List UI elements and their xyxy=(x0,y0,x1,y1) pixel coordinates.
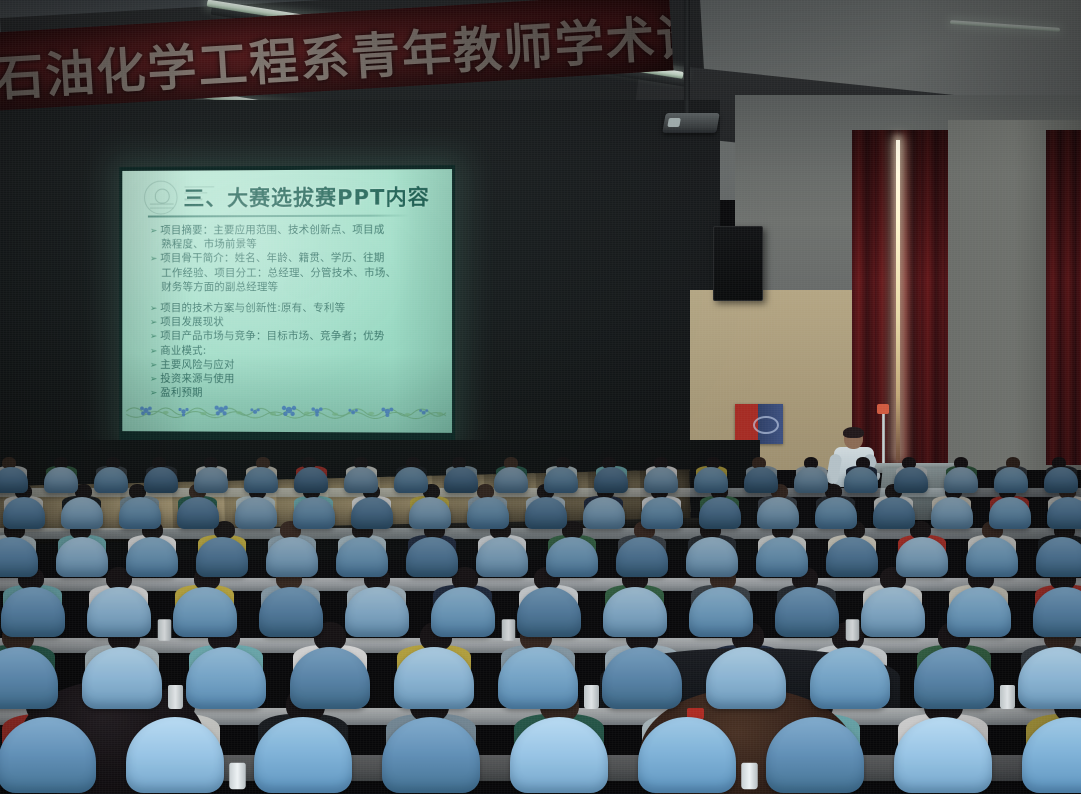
auditorium-seat xyxy=(87,587,151,637)
auditorium-photo: 石油化学工程系青年教师学术论坛 三、大赛选拔赛PPT内容 ➢项目摘要：主要应用范… xyxy=(0,0,1081,794)
slide-bullet-text: 项目发展现状 xyxy=(160,316,224,329)
auditorium-seat xyxy=(244,467,278,493)
slide-bullet-item: ➢投资来源与使用 xyxy=(150,373,434,387)
auditorium-seat xyxy=(177,497,219,529)
auditorium-seat xyxy=(259,587,323,637)
audience-seating xyxy=(0,455,1081,794)
stage-curtain-right xyxy=(1046,130,1081,465)
projector-icon xyxy=(662,113,720,133)
slide-title-underline xyxy=(148,215,410,218)
curtain-light-gap xyxy=(896,140,900,460)
bullet-arrow-icon: ➢ xyxy=(150,225,157,238)
paper-cup xyxy=(158,619,172,641)
auditorium-seat xyxy=(336,537,388,577)
microphone-icon xyxy=(877,404,889,414)
auditorium-seat xyxy=(525,497,567,529)
curtain-shading-right xyxy=(1046,130,1081,465)
bullet-arrow-icon: ➢ xyxy=(150,254,157,267)
auditorium-seat xyxy=(294,467,328,493)
auditorium-seat xyxy=(594,467,628,493)
paper-cup xyxy=(502,619,516,641)
auditorium-seat xyxy=(3,497,45,529)
auditorium-seat xyxy=(44,467,78,493)
auditorium-seat xyxy=(894,467,928,493)
auditorium-seat xyxy=(94,467,128,493)
projection-screen: 三、大赛选拔赛PPT内容 ➢项目摘要：主要应用范围、技术创新点、项目成➢熟程度、… xyxy=(122,169,452,433)
slide-bullet-text: 商业模式: xyxy=(160,344,206,357)
auditorium-seat xyxy=(235,497,277,529)
auditorium-seat xyxy=(266,537,318,577)
paper-cup xyxy=(168,685,183,709)
floral-border-svg xyxy=(122,395,452,422)
slide-bullet-item: ➢商业模式: xyxy=(150,344,434,358)
auditorium-seat xyxy=(345,587,409,637)
slide-bullet-item: ➢项目发展现状 xyxy=(150,316,434,329)
auditorium-seat xyxy=(394,467,428,493)
auditorium-seat xyxy=(476,537,528,577)
auditorium-seat xyxy=(689,587,753,637)
slide-bullet-item: ➢项目产品市场与竞争：目标市场、竞争者；优势 xyxy=(150,330,434,344)
bullet-arrow-icon: ➢ xyxy=(150,374,157,387)
slide-bullet-text: 项目骨干简介：姓名、年龄、籍贯、学历、往期 xyxy=(160,252,384,266)
auditorium-seat xyxy=(966,537,1018,577)
auditorium-seat xyxy=(603,587,667,637)
auditorium-seat xyxy=(757,497,799,529)
auditorium-seat xyxy=(699,497,741,529)
slide-bullet-line-cont: ➢财务等方面的副总经理等 xyxy=(150,281,434,294)
auditorium-seat xyxy=(694,467,728,493)
projector-lens xyxy=(667,118,681,127)
paper-cup xyxy=(1000,685,1015,709)
auditorium-seat xyxy=(873,497,915,529)
auditorium-seat xyxy=(126,537,178,577)
bullet-arrow-icon: ➢ xyxy=(150,360,157,373)
auditorium-seat xyxy=(61,497,103,529)
auditorium-seat xyxy=(1,587,65,637)
slide-bullet-text: 工作经验、项目分工：总经理、分管技术、市场、 xyxy=(161,266,396,280)
auditorium-seat xyxy=(344,467,378,493)
auditorium-seat xyxy=(844,467,878,493)
auditorium-seat xyxy=(351,497,393,529)
auditorium-seat xyxy=(467,497,509,529)
slide-spacer xyxy=(150,295,434,302)
auditorium-seat xyxy=(583,497,625,529)
auditorium-seat xyxy=(517,587,581,637)
slide-bullet-line-cont: ➢熟程度、市场前景等 xyxy=(150,238,434,252)
auditorium-seat xyxy=(994,467,1028,493)
auditorium-seat xyxy=(494,467,528,493)
auditorium-seat xyxy=(544,467,578,493)
slide-bullet-text: 熟程度、市场前景等 xyxy=(161,238,257,251)
paper-cup xyxy=(741,763,758,789)
auditorium-seat xyxy=(775,587,839,637)
slide-bullet-text: 项目摘要：主要应用范围、技术创新点、项目成 xyxy=(160,224,384,238)
slide-bullet-item: ➢主要风险与应对 xyxy=(150,359,434,373)
auditorium-seat xyxy=(644,467,678,493)
slide-bullet-text: 投资来源与使用 xyxy=(160,373,234,386)
auditorium-seat xyxy=(194,467,228,493)
auditorium-seat xyxy=(144,467,178,493)
slide-title: 三、大赛选拔赛PPT内容 xyxy=(184,181,430,212)
auditorium-seat xyxy=(815,497,857,529)
auditorium-seat xyxy=(1044,467,1078,493)
auditorium-seat xyxy=(546,537,598,577)
auditorium-seat xyxy=(56,537,108,577)
slide-bullet-text: 主要风险与应对 xyxy=(160,359,234,372)
speaker-icon xyxy=(713,226,763,301)
presenter-hair xyxy=(843,427,864,438)
auditorium-seat xyxy=(1036,537,1081,577)
auditorium-seat xyxy=(293,497,335,529)
auditorium-seat xyxy=(944,467,978,493)
slide-bullet-item: ➢项目骨干简介：姓名、年龄、籍贯、学历、往期 xyxy=(150,252,434,266)
slide-bullet-line-cont: ➢工作经验、项目分工：总经理、分管技术、市场、 xyxy=(150,266,434,280)
auditorium-seat xyxy=(686,537,738,577)
bullet-arrow-icon: ➢ xyxy=(150,303,157,316)
auditorium-seat xyxy=(744,467,778,493)
auditorium-seat xyxy=(794,467,828,493)
bullet-arrow-icon: ➢ xyxy=(150,331,157,344)
wall-poster xyxy=(735,404,783,444)
auditorium-seat xyxy=(406,537,458,577)
bullet-arrow-icon: ➢ xyxy=(150,317,157,330)
auditorium-seat xyxy=(947,587,1011,637)
auditorium-seat xyxy=(896,537,948,577)
projection-screen-frame: 三、大赛选拔赛PPT内容 ➢项目摘要：主要应用范围、技术创新点、项目成➢熟程度、… xyxy=(119,165,455,445)
slide-bullet-list: ➢项目摘要：主要应用范围、技术创新点、项目成➢熟程度、市场前景等➢项目骨干简介：… xyxy=(150,223,434,402)
slide-floral-border xyxy=(122,395,452,422)
slide-bullet-item: ➢项目的技术方案与创新性:原有、专利等 xyxy=(150,302,434,315)
auditorium-seat xyxy=(196,537,248,577)
paper-cup xyxy=(846,619,860,641)
paper-cup xyxy=(229,763,246,789)
slide-bullet-item: ➢项目摘要：主要应用范围、技术创新点、项目成 xyxy=(150,223,434,237)
auditorium-seat xyxy=(931,497,973,529)
institution-logo-icon xyxy=(144,181,178,215)
bullet-arrow-icon: ➢ xyxy=(150,345,157,358)
auditorium-seat xyxy=(989,497,1031,529)
slide-bullet-text: 项目的技术方案与创新性:原有、专利等 xyxy=(160,302,345,315)
slide-bullet-text: 项目产品市场与竞争：目标市场、竞争者；优势 xyxy=(160,330,384,344)
auditorium-seat xyxy=(756,537,808,577)
auditorium-seat xyxy=(119,497,161,529)
slide-bullet-text: 财务等方面的副总经理等 xyxy=(161,281,278,294)
auditorium-seat xyxy=(431,587,495,637)
auditorium-seat xyxy=(409,497,451,529)
auditorium-seat xyxy=(173,587,237,637)
projector-mount-pole xyxy=(684,0,690,118)
auditorium-seat xyxy=(444,467,478,493)
auditorium-seat xyxy=(616,537,668,577)
auditorium-seat xyxy=(861,587,925,637)
auditorium-seat xyxy=(826,537,878,577)
auditorium-seat xyxy=(641,497,683,529)
paper-cup xyxy=(584,685,599,709)
